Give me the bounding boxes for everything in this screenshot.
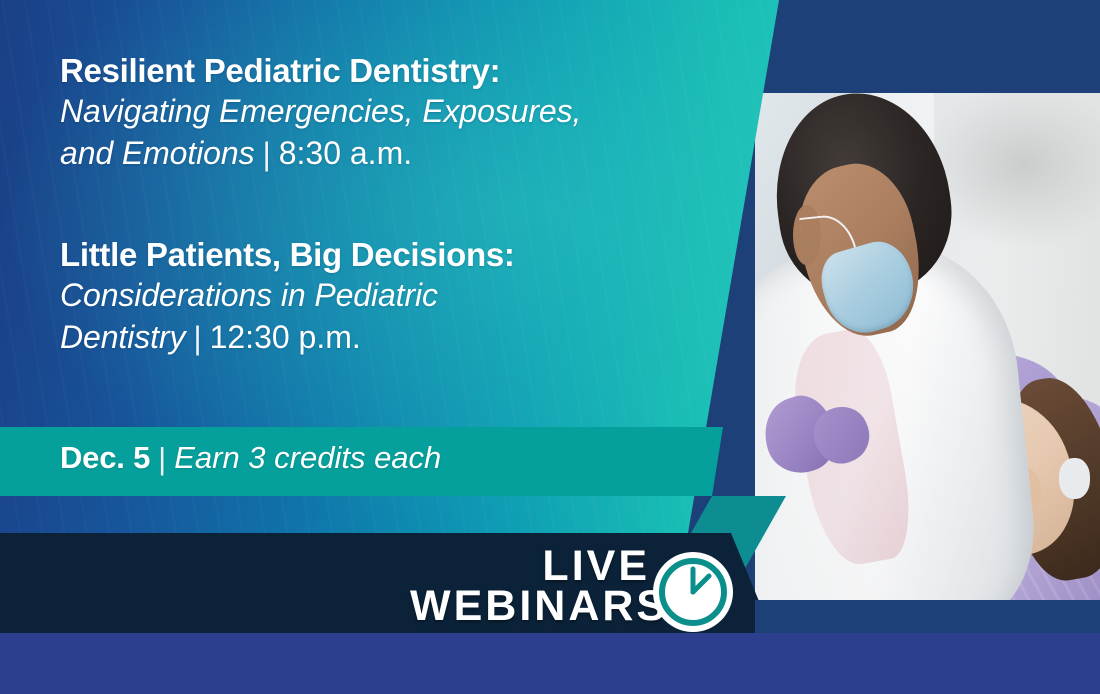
webinar-listing-2: Little Patients, Big Decisions: Consider… bbox=[60, 236, 515, 358]
dentist-patient-photo bbox=[755, 93, 1100, 600]
webinar-1-subtitle-line1: Navigating Emergencies, Exposures, bbox=[60, 93, 581, 129]
webinar-1-title: Resilient Pediatric Dentistry: bbox=[60, 52, 581, 91]
banner-content: Resilient Pediatric Dentistry: Navigatin… bbox=[0, 0, 800, 694]
webinar-2-title: Little Patients, Big Decisions: bbox=[60, 236, 515, 275]
webinar-2-subtitle: Considerations in Pediatric Dentistry|12… bbox=[60, 275, 515, 358]
live-webinars-lockup: LIVE WEBINARS bbox=[410, 547, 650, 626]
webinar-2-subtitle-line1: Considerations in Pediatric bbox=[60, 277, 438, 313]
date-separator: | bbox=[150, 441, 174, 477]
webinar-1-subtitle-line2: and Emotions bbox=[60, 135, 254, 171]
webinar-1-time: 8:30 a.m. bbox=[279, 135, 412, 171]
clock-icon bbox=[652, 551, 734, 633]
webinar-promo-banner: Resilient Pediatric Dentistry: Navigatin… bbox=[0, 0, 1100, 694]
webinar-2-subtitle-line2: Dentistry bbox=[60, 319, 185, 355]
webinar-2-time: 12:30 p.m. bbox=[210, 319, 361, 355]
webinars-label: WEBINARS bbox=[410, 587, 650, 627]
webinar-1-subtitle: Navigating Emergencies, Exposures, and E… bbox=[60, 91, 581, 174]
webinar-listing-1: Resilient Pediatric Dentistry: Navigatin… bbox=[60, 52, 581, 174]
date-and-credits: Dec. 5|Earn 3 credits each bbox=[60, 440, 441, 476]
event-date: Dec. 5 bbox=[60, 440, 150, 475]
credits-text: Earn 3 credits each bbox=[174, 440, 441, 475]
live-label: LIVE bbox=[410, 547, 650, 587]
webinar-1-separator: | bbox=[254, 134, 278, 176]
webinar-2-separator: | bbox=[185, 318, 209, 360]
photo-tone-overlay bbox=[755, 93, 1100, 600]
